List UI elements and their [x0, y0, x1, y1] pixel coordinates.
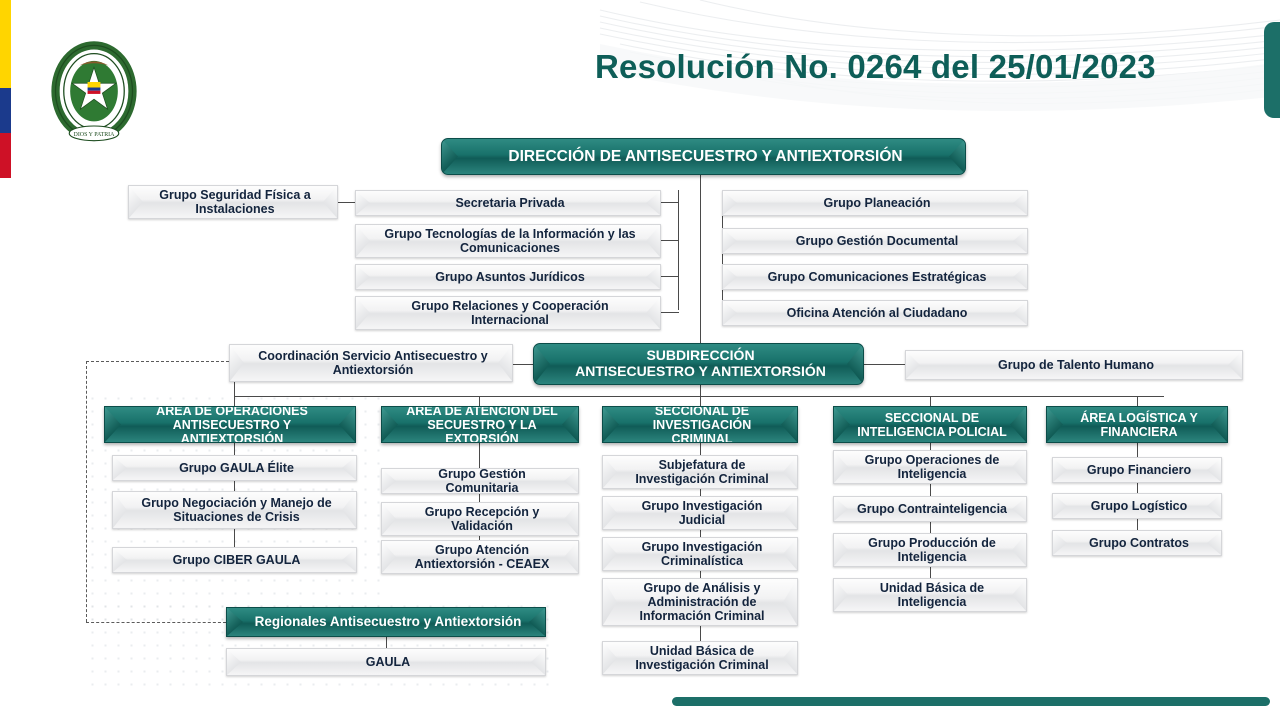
column-4-item-0-label: Grupo Financiero — [1087, 463, 1191, 477]
column-head-4-label: ÁREA LOGÍSTICA Y FINANCIERA — [1067, 411, 1211, 439]
column-head-0[interactable]: ÁREA DE OPERACIONES ANTISECUESTRO Y ANTI… — [104, 406, 356, 443]
column-4-item-2[interactable]: Grupo Contratos — [1052, 530, 1222, 556]
connector-left-staff-1 — [660, 202, 679, 203]
svg-text:DIOS Y PATRIA: DIOS Y PATRIA — [74, 132, 116, 138]
node-seguridad-fisica-label: Grupo Seguridad Física a Instalaciones — [149, 188, 321, 216]
staff-left-item-0[interactable]: Secretaria Privada — [355, 190, 661, 216]
node-talento-humano-label: Grupo de Talento Humano — [998, 358, 1154, 372]
connector-left-staff-4 — [660, 312, 679, 313]
connector-dashed-bottom — [86, 622, 226, 623]
column-1-item-1[interactable]: Grupo Recepción y Validación — [381, 502, 579, 536]
node-gaula[interactable]: GAULA — [226, 648, 546, 676]
column-1-item-2[interactable]: Grupo Atención Antiextorsión - CEAEX — [381, 540, 579, 574]
staff-right-item-2-label: Grupo Comunicaciones Estratégicas — [768, 270, 987, 284]
connector-dashed-vertical — [86, 361, 87, 622]
column-head-1[interactable]: ÁREA DE ATENCIÓN DEL SECUESTRO Y LA EXTO… — [381, 406, 579, 443]
node-coordinacion-servicio[interactable]: Coordinación Servicio Antisecuestro y An… — [229, 344, 513, 382]
staff-left-item-1-label: Grupo Tecnologías de la Información y la… — [376, 227, 644, 255]
column-2-item-2[interactable]: Grupo Investigación Criminalística — [602, 537, 798, 571]
column-2-item-3[interactable]: Grupo de Análisis y Administración de In… — [602, 578, 798, 626]
connector-drop-col1 — [234, 380, 235, 408]
node-regionales[interactable]: Regionales Antisecuestro y Antiextorsión — [226, 607, 546, 637]
node-subdireccion-line1: SUBDIRECCIÓN — [575, 348, 826, 364]
column-3-item-1[interactable]: Grupo Contrainteligencia — [833, 496, 1027, 522]
node-subdireccion-label: SUBDIRECCIÓN ANTISECUESTRO Y ANTIEXTORSI… — [575, 348, 826, 379]
staff-right-item-3-label: Oficina Atención al Ciudadano — [787, 306, 968, 320]
connector-left-staff-2 — [660, 240, 679, 241]
connector-column-bus — [234, 396, 1164, 397]
column-3-item-0-label: Grupo Operaciones de Inteligencia — [854, 453, 1010, 481]
column-3-item-2-label: Grupo Producción de Inteligencia — [854, 536, 1010, 564]
connector-dashed-top — [86, 361, 234, 362]
staff-right-item-1[interactable]: Grupo Gestión Documental — [722, 228, 1028, 254]
column-2-item-1-label: Grupo Investigación Judicial — [623, 499, 781, 527]
column-1-item-2-label: Grupo Atención Antiextorsión - CEAEX — [402, 543, 562, 571]
column-0-item-1-label: Grupo Negociación y Manejo de Situacione… — [133, 496, 340, 524]
node-seguridad-fisica[interactable]: Grupo Seguridad Física a Instalaciones — [128, 185, 338, 219]
staff-left-item-0-label: Secretaria Privada — [455, 196, 564, 210]
bottom-accent-rule — [672, 697, 1270, 706]
staff-right-item-2[interactable]: Grupo Comunicaciones Estratégicas — [722, 264, 1028, 290]
column-4-item-2-label: Grupo Contratos — [1089, 536, 1189, 550]
staff-left-item-2[interactable]: Grupo Asuntos Jurídicos — [355, 264, 661, 290]
node-talento-humano[interactable]: Grupo de Talento Humano — [905, 350, 1243, 380]
column-3-item-1-label: Grupo Contrainteligencia — [857, 502, 1007, 516]
column-3-item-2[interactable]: Grupo Producción de Inteligencia — [833, 533, 1027, 567]
slide-canvas: DIOS Y PATRIA Resolución No. 0264 del 25… — [0, 0, 1280, 720]
right-accent-bar — [1264, 22, 1280, 118]
staff-right-item-0-label: Grupo Planeación — [824, 196, 931, 210]
connector-left-staff-trunk — [678, 190, 679, 310]
node-direccion[interactable]: DIRECCIÓN DE ANTISECUESTRO Y ANTIEXTORSI… — [441, 138, 966, 175]
column-1-item-1-label: Grupo Recepción y Validación — [402, 505, 562, 533]
column-4-item-1-label: Grupo Logístico — [1091, 499, 1188, 513]
column-head-0-label: ÁREA DE OPERACIONES ANTISECUESTRO Y ANTI… — [125, 406, 339, 443]
column-2-item-3-label: Grupo de Análisis y Administración de In… — [623, 581, 781, 623]
page-title: Resolución No. 0264 del 25/01/2023 — [595, 48, 1156, 86]
column-0-item-0-label: Grupo GAULA Élite — [179, 461, 294, 475]
column-head-4[interactable]: ÁREA LOGÍSTICA Y FINANCIERA — [1046, 406, 1228, 443]
column-4-item-1[interactable]: Grupo Logístico — [1052, 493, 1222, 519]
node-regionales-label: Regionales Antisecuestro y Antiextorsión — [255, 614, 522, 629]
column-3-item-0[interactable]: Grupo Operaciones de Inteligencia — [833, 450, 1027, 484]
column-2-item-0-label: Subjefatura de Investigación Criminal — [623, 458, 781, 486]
flag-stripe-yellow — [0, 0, 11, 88]
escudo-policia-nacional-colombia-icon: DIOS Y PATRIA — [48, 38, 140, 148]
connector-left-staff-3 — [660, 276, 679, 277]
flag-stripe-blue — [0, 88, 11, 133]
staff-left-item-3[interactable]: Grupo Relaciones y Cooperación Internaci… — [355, 296, 661, 330]
staff-right-item-0[interactable]: Grupo Planeación — [722, 190, 1028, 216]
colombia-flag-bar — [0, 0, 11, 178]
column-1-item-0-label: Grupo Gestión Comunitaria — [402, 468, 562, 494]
column-4-item-0[interactable]: Grupo Financiero — [1052, 457, 1222, 483]
column-2-item-2-label: Grupo Investigación Criminalística — [623, 540, 781, 568]
column-2-item-1[interactable]: Grupo Investigación Judicial — [602, 496, 798, 530]
column-2-item-0[interactable]: Subjefatura de Investigación Criminal — [602, 455, 798, 489]
flag-stripe-red — [0, 133, 11, 178]
node-coordinacion-servicio-label: Coordinación Servicio Antisecuestro y An… — [250, 349, 496, 377]
column-0-item-2[interactable]: Grupo CIBER GAULA — [112, 547, 357, 573]
staff-left-item-1[interactable]: Grupo Tecnologías de la Información y la… — [355, 224, 661, 258]
node-subdireccion[interactable]: SUBDIRECCIÓN ANTISECUESTRO Y ANTIEXTORSI… — [533, 343, 864, 385]
column-3-item-3[interactable]: Unidad Básica de Inteligencia — [833, 578, 1027, 612]
column-1-item-0[interactable]: Grupo Gestión Comunitaria — [381, 468, 579, 494]
node-subdireccion-line2: ANTISECUESTRO Y ANTIEXTORSIÓN — [575, 364, 826, 380]
connector-talento-humano — [864, 364, 908, 365]
column-head-3[interactable]: SECCIONAL DE INTELIGENCIA POLICIAL — [833, 406, 1027, 443]
column-2-item-4[interactable]: Unidad Básica de Investigación Criminal — [602, 641, 798, 675]
column-0-item-0[interactable]: Grupo GAULA Élite — [112, 455, 357, 481]
column-0-item-1[interactable]: Grupo Negociación y Manejo de Situacione… — [112, 491, 357, 529]
staff-left-item-3-label: Grupo Relaciones y Cooperación Internaci… — [376, 299, 644, 327]
connector-root-spine — [700, 175, 701, 355]
staff-right-item-1-label: Grupo Gestión Documental — [796, 234, 959, 248]
column-head-3-label: SECCIONAL DE INTELIGENCIA POLICIAL — [854, 411, 1010, 439]
column-head-1-label: ÁREA DE ATENCIÓN DEL SECUESTRO Y LA EXTO… — [402, 406, 562, 443]
column-3-item-3-label: Unidad Básica de Inteligencia — [854, 581, 1010, 609]
node-gaula-label: GAULA — [366, 655, 410, 669]
column-0-item-2-label: Grupo CIBER GAULA — [173, 553, 301, 567]
column-2-item-4-label: Unidad Básica de Investigación Criminal — [623, 644, 781, 672]
node-direccion-label: DIRECCIÓN DE ANTISECUESTRO Y ANTIEXTORSI… — [508, 148, 902, 165]
staff-left-item-2-label: Grupo Asuntos Jurídicos — [435, 270, 585, 284]
column-head-2-label: SECCIONAL DE INVESTIGACIÓN CRIMINAL — [623, 406, 781, 443]
staff-right-item-3[interactable]: Oficina Atención al Ciudadano — [722, 300, 1028, 326]
column-head-2[interactable]: SECCIONAL DE INVESTIGACIÓN CRIMINAL — [602, 406, 798, 443]
